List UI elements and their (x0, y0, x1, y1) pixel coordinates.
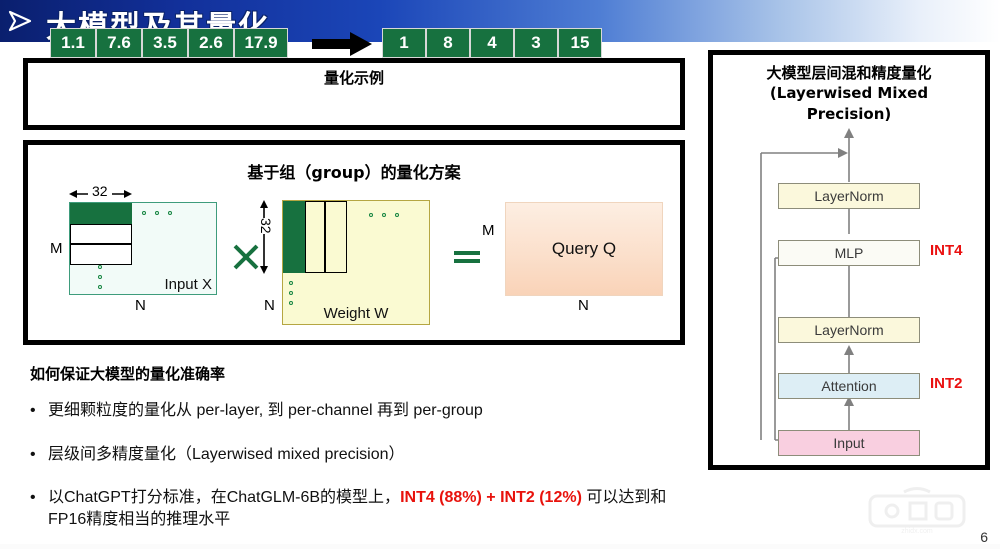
bullet-text-highlight: INT4 (88%) + INT2 (12%) (400, 489, 582, 506)
bullet-list: • 更细颗粒度的量化从 per-layer, 到 per-channel 再到 … (30, 400, 680, 552)
quantized-value-cell: 4 (470, 28, 514, 58)
bullet-text: 层级间多精度量化（Layerwised mixed precision） (48, 444, 405, 466)
multiply-operator-icon (232, 243, 260, 271)
weight-matrix-label: Weight W (283, 305, 429, 322)
bullet-marker-icon: • (30, 444, 48, 466)
dot-icon (98, 275, 102, 279)
output-matrix: Query Q (505, 202, 663, 296)
dot-icon (395, 213, 399, 217)
group-size-arrow-w-icon (258, 200, 270, 274)
input-matrix-v-dots (98, 265, 102, 289)
svg-text:zhidx.com: zhidx.com (901, 528, 933, 534)
dot-icon (289, 291, 293, 295)
source-value-row: 1.1 7.6 3.5 2.6 17.9 (50, 28, 288, 58)
weight-matrix-col-1 (305, 201, 325, 273)
bullet-marker-icon: • (30, 400, 48, 422)
input-matrix-group-block (70, 203, 132, 224)
dot-icon (289, 281, 293, 285)
list-item: • 更细颗粒度的量化从 per-layer, 到 per-channel 再到 … (30, 400, 680, 422)
chevron-right-marker-icon (8, 9, 34, 33)
bullet-text: 以ChatGPT打分标准，在ChatGLM-6B的模型上，INT4 (88%) … (48, 487, 680, 530)
weight-matrix: Weight W (282, 200, 430, 325)
bullet-text-part: 以ChatGPT打分标准，在ChatGLM-6B的模型上， (48, 489, 400, 506)
page-number: 6 (980, 529, 988, 545)
body-sub-heading: 如何保证大模型的量化准确率 (30, 363, 225, 384)
group-quantization-title: 基于组（group）的量化方案 (28, 159, 680, 183)
quantized-value-cell: 8 (426, 28, 470, 58)
output-matrix-label: Query Q (552, 239, 616, 259)
group-size-label-x: 32 (88, 183, 112, 199)
source-value-cell: 17.9 (234, 28, 288, 58)
architecture-block-mlp[interactable]: MLP (778, 240, 920, 266)
dot-icon (155, 211, 159, 215)
group-size-label-w: 32 (258, 218, 274, 234)
quantized-value-cell: 1 (382, 28, 426, 58)
weight-matrix-v-dots (289, 281, 293, 305)
equals-operator-icon (452, 248, 482, 266)
source-value-cell: 1.1 (50, 28, 96, 58)
list-item: • 层级间多精度量化（Layerwised mixed precision） (30, 444, 680, 466)
input-matrix-col-label: N (135, 297, 146, 314)
output-matrix-col-label: N (578, 297, 589, 314)
quantized-value-cell: 3 (514, 28, 558, 58)
bullet-text-part: 更细颗粒度的量化从 per-layer, 到 per-channel 再到 pe… (48, 402, 483, 419)
zhidx-watermark-logo: zhidx.com (862, 486, 972, 534)
weight-matrix-col-2 (325, 201, 347, 273)
source-value-cell: 2.6 (188, 28, 234, 58)
input-matrix-row-2 (70, 244, 132, 265)
source-value-cell: 3.5 (142, 28, 188, 58)
dot-icon (369, 213, 373, 217)
bullet-text: 更细颗粒度的量化从 per-layer, 到 per-channel 再到 pe… (48, 400, 483, 422)
right-arrow-icon (312, 32, 372, 56)
bullet-text-part: 层级间多精度量化（Layerwised mixed precision） (48, 446, 405, 463)
architecture-panel-title: 大模型层间混和精度量化 (Layerwised Mixed Precision) (719, 63, 979, 124)
architecture-block-layernorm-top[interactable]: LayerNorm (778, 183, 920, 209)
input-matrix-row-1 (70, 224, 132, 244)
input-matrix: Input X (69, 202, 217, 295)
output-matrix-row-label: M (482, 222, 495, 239)
architecture-title-line-3: Precision) (719, 104, 979, 124)
slide-canvas: 大模型及其量化 量化示例 1.1 7.6 3.5 2.6 17.9 1 8 4 … (0, 0, 1000, 549)
input-matrix-row-label: M (50, 240, 63, 257)
weight-matrix-col-label: N (264, 297, 275, 314)
input-matrix-h-dots (142, 211, 172, 215)
quantization-example-title: 量化示例 (28, 67, 680, 88)
dot-icon (98, 265, 102, 269)
dot-icon (142, 211, 146, 215)
annotation-int4: INT4 (930, 242, 963, 259)
architecture-block-attention[interactable]: Attention (778, 373, 920, 399)
dot-icon (168, 211, 172, 215)
weight-matrix-h-dots (369, 213, 399, 217)
bullet-marker-icon: • (30, 487, 48, 530)
input-matrix-label: Input X (164, 276, 212, 293)
architecture-block-input[interactable]: Input (778, 430, 920, 456)
weight-matrix-group-block (283, 201, 305, 273)
architecture-title-line-1: 大模型层间混和精度量化 (719, 63, 979, 83)
footer-strip (0, 544, 1000, 549)
quantization-example-panel: 量化示例 (23, 58, 685, 130)
quantized-value-row: 1 8 4 3 15 (382, 28, 602, 58)
annotation-int2: INT2 (930, 375, 963, 392)
architecture-block-layernorm-bottom[interactable]: LayerNorm (778, 317, 920, 343)
quantized-value-cell: 15 (558, 28, 602, 58)
source-value-cell: 7.6 (96, 28, 142, 58)
dot-icon (98, 285, 102, 289)
dot-icon (382, 213, 386, 217)
architecture-title-line-2: (Layerwised Mixed (719, 83, 979, 103)
list-item: • 以ChatGPT打分标准，在ChatGLM-6B的模型上，INT4 (88%… (30, 487, 680, 530)
